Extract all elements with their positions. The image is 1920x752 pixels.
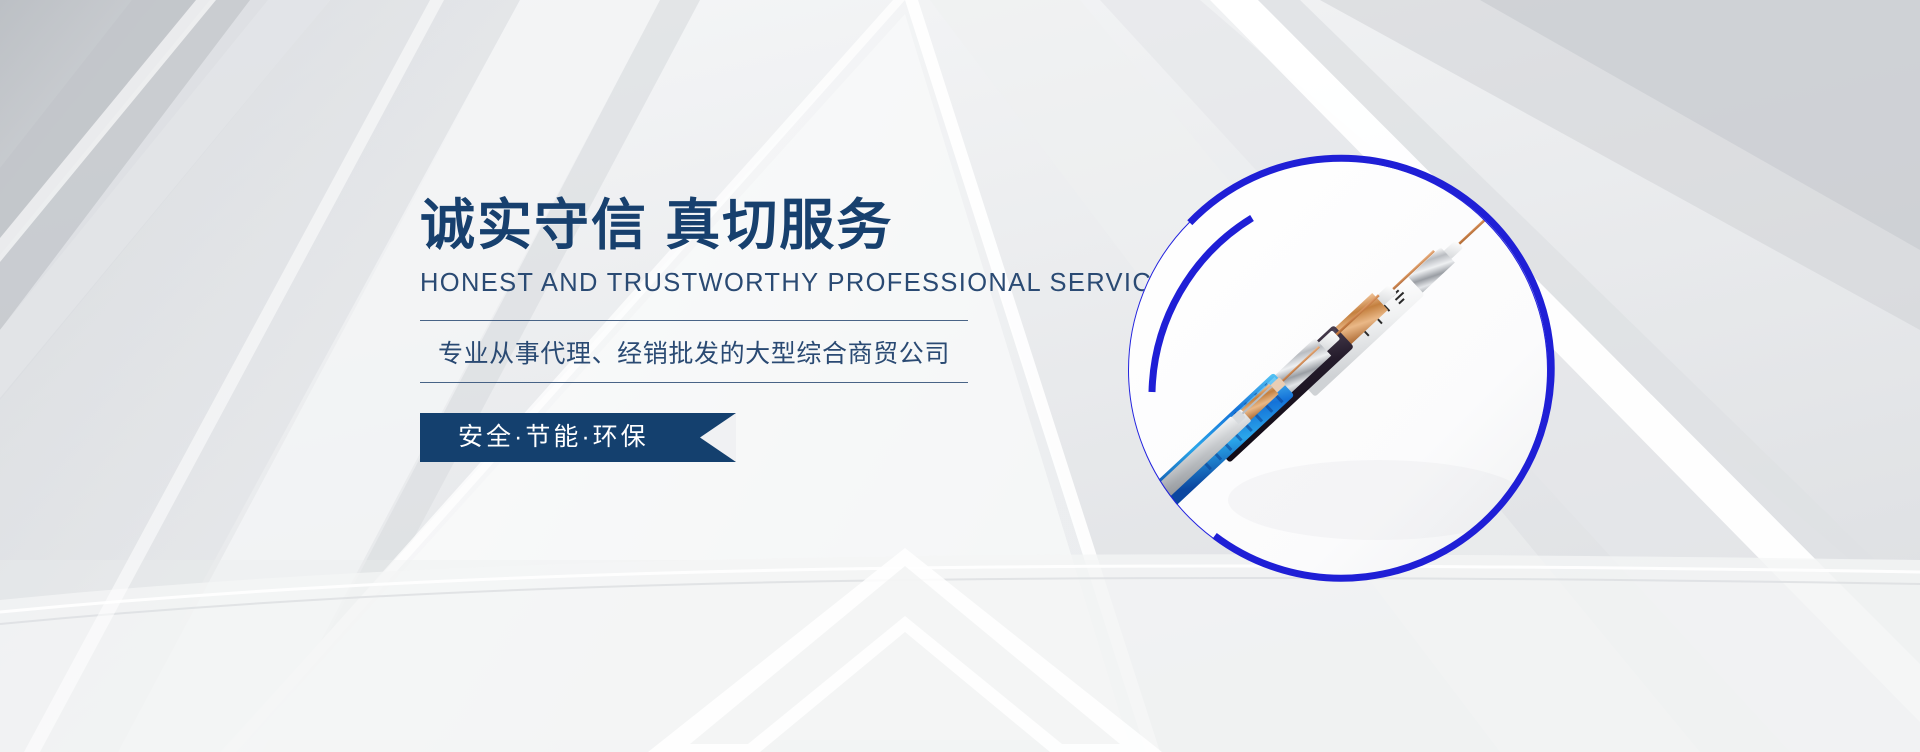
tagline-ribbon-wrapper: 安全·节能·环保 [420,413,1060,467]
circle-outline [1128,160,1548,580]
page-subtitle: HONEST AND TRUSTWORTHY PROFESSIONAL SERV… [420,269,1060,298]
tagline-ribbon[interactable]: 安全·节能·环保 [420,413,736,462]
divider-bottom [420,382,968,383]
hero-banner: 诚实守信 真切服务 HONEST AND TRUSTWORTHY PROFESS… [0,0,1920,752]
divider-top [420,320,968,321]
hero-text-block: 诚实守信 真切服务 HONEST AND TRUSTWORTHY PROFESS… [420,196,1060,467]
tagline-text: 安全·节能·环保 [458,413,649,462]
product-medallion [1128,160,1548,580]
description-group: 专业从事代理、经销批发的大型综合商贸公司 [420,320,968,383]
page-title: 诚实守信 真切服务 [420,196,1060,255]
company-description: 专业从事代理、经销批发的大型综合商贸公司 [420,321,968,382]
